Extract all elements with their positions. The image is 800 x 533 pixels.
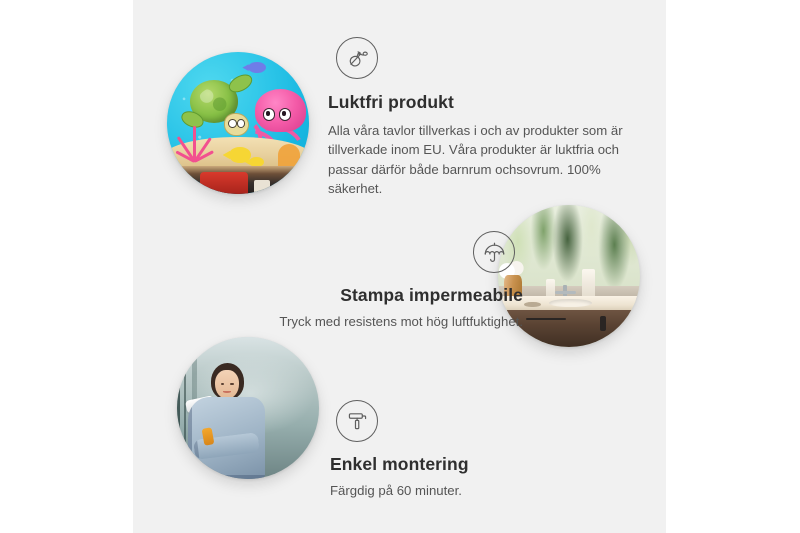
no-perfume-spray-icon	[336, 37, 378, 79]
umbrella-icon	[473, 231, 515, 273]
sink-basin	[549, 299, 592, 308]
feature-description: Alla våra tavlor tillverkas i och av pro…	[328, 121, 628, 198]
feature-description: Färgdig på 60 minuter.	[330, 481, 620, 500]
soap-dish	[524, 302, 541, 308]
feature-block-odourless: Luktfri produkt Alla våra tavlor tillver…	[328, 37, 628, 198]
product-photo-underwater[interactable]	[167, 52, 309, 194]
paint-roller-icon	[336, 400, 378, 442]
feature-block-waterproof: Stampa impermeabile Tryck med resistens …	[205, 231, 523, 331]
feature-title: Enkel montering	[330, 454, 620, 475]
room-foreground-strip	[167, 166, 309, 194]
painter-scene	[177, 337, 319, 479]
feature-block-assembly: Enkel montering Färgdig på 60 minuter.	[330, 400, 620, 500]
feature-title: Luktfri produkt	[328, 92, 628, 113]
product-photo-painter[interactable]	[177, 337, 319, 479]
octopus-head	[255, 89, 306, 132]
paint-roller-grip	[201, 427, 214, 445]
wooden-vanity	[507, 310, 640, 347]
underwater-scene	[167, 52, 309, 194]
feature-title: Stampa impermeabile	[205, 285, 523, 306]
sea-weed	[278, 144, 301, 167]
pink-coral	[177, 124, 214, 161]
infographic-panel: Luktfri produkt Alla våra tavlor tillver…	[133, 0, 666, 533]
feature-description: Tryck med resistens mot hög luftfuktighe…	[205, 312, 523, 331]
yellow-fish-icon	[229, 147, 250, 163]
